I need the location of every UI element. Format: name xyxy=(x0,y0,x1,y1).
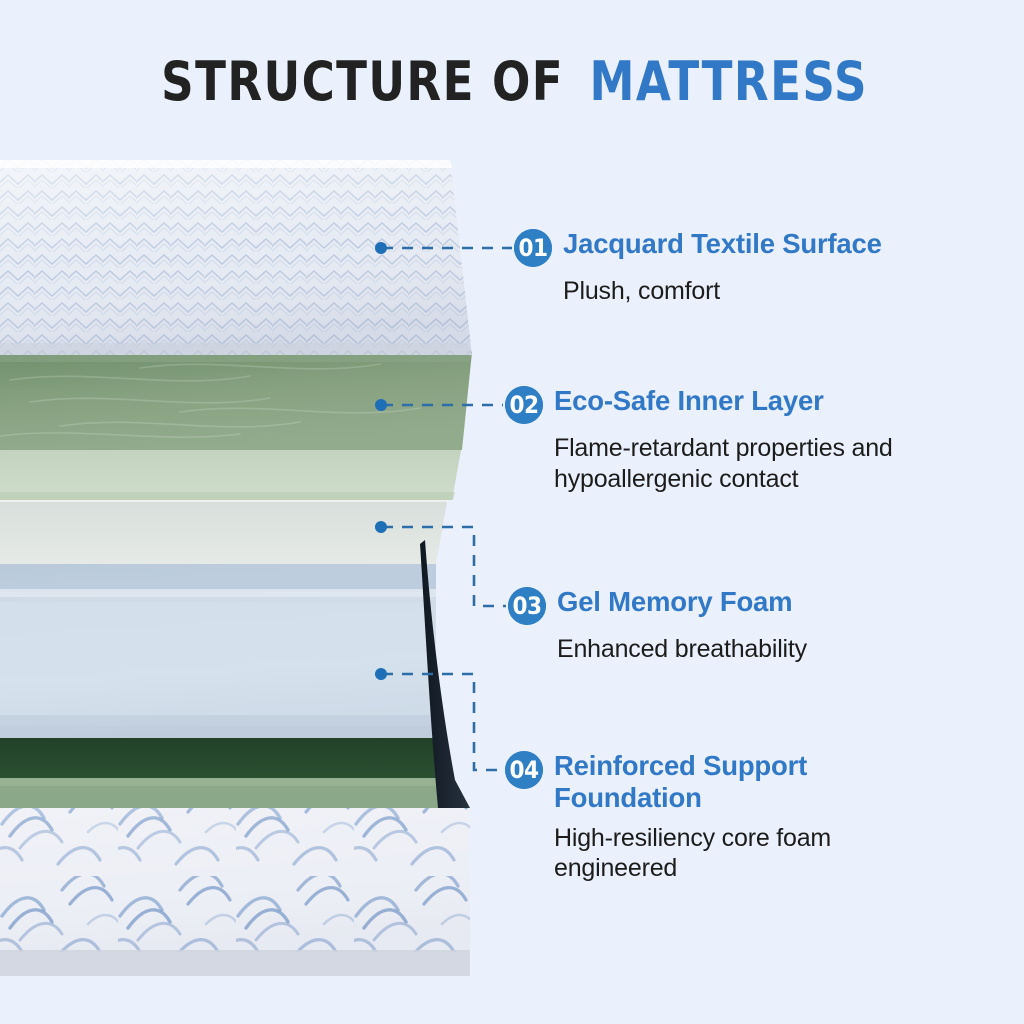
mattress-cutaway-illustration xyxy=(0,140,520,1020)
callout-02-title: Eco-Safe Inner Layer xyxy=(554,385,824,417)
callout-04-description: High-resiliency core foam engineered xyxy=(554,823,905,884)
page-title-part-mattress: MATTRESS xyxy=(589,50,868,113)
layer-jacquard-textile-surface xyxy=(0,160,472,355)
callout-02-description: Flame-retardant properties and hypoaller… xyxy=(554,433,975,494)
mattress-structure-infographic: STRUCTURE OF MATTRESS xyxy=(0,0,1024,1024)
callout-04-title: Reinforced Support Foundation xyxy=(554,750,884,814)
callout-02-head: 02 Eco-Safe Inner Layer xyxy=(505,385,975,424)
layer-white-foam xyxy=(0,493,452,564)
callout-03-description: Enhanced breathability xyxy=(557,634,978,665)
layer-pale-green-transition xyxy=(0,445,462,500)
layer-green-edge-band xyxy=(0,776,470,808)
callout-02-badge: 02 xyxy=(505,386,543,424)
callout-03-title: Gel Memory Foam xyxy=(557,586,792,618)
callout-01-head: 01 Jacquard Textile Surface xyxy=(514,228,984,267)
callout-03[interactable]: 03 Gel Memory Foam Enhanced breathabilit… xyxy=(508,586,978,665)
layer-reinforced-support-foundation-base xyxy=(0,807,470,976)
callout-01-badge: 01 xyxy=(514,229,552,267)
layer-gel-memory-foam xyxy=(0,557,436,738)
callout-04-badge: 04 xyxy=(505,751,543,789)
callout-03-badge: 03 xyxy=(508,587,546,625)
callout-01-description: Plush, comfort xyxy=(563,276,984,307)
callout-01[interactable]: 01 Jacquard Textile Surface Plush, comfo… xyxy=(514,228,984,307)
callout-01-title: Jacquard Textile Surface xyxy=(563,228,882,260)
page-title: STRUCTURE OF MATTRESS xyxy=(0,50,1024,113)
layer-eco-safe-inner xyxy=(0,352,472,450)
callout-04-head: 04 Reinforced Support Foundation xyxy=(505,750,905,814)
page-title-part-structure-of: STRUCTURE OF xyxy=(161,50,564,113)
callout-03-head: 03 Gel Memory Foam xyxy=(508,586,978,625)
callout-02[interactable]: 02 Eco-Safe Inner Layer Flame-retardant … xyxy=(505,385,975,494)
callout-04[interactable]: 04 Reinforced Support Foundation High-re… xyxy=(505,750,905,884)
